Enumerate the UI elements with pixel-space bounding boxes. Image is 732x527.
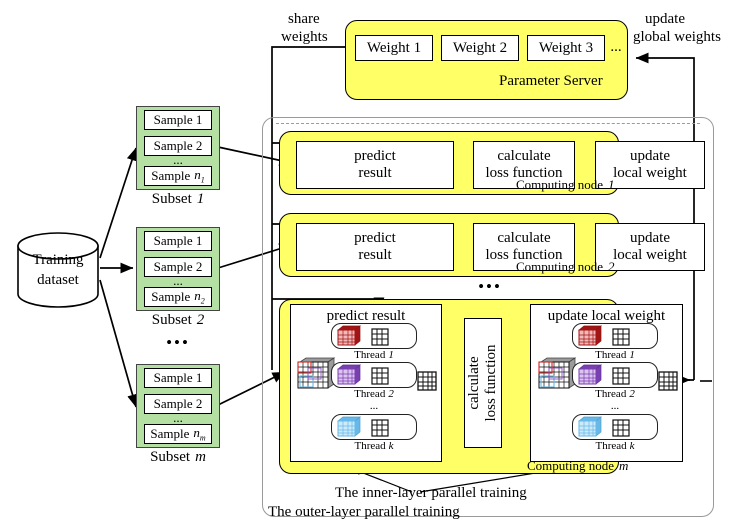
weight-label: Weight 2 xyxy=(453,40,507,57)
weight-label: Weight 3 xyxy=(539,40,593,57)
update-global-weights-label-line2: global weights xyxy=(633,30,721,46)
sample-label: Sample xyxy=(150,426,189,442)
subset-caption-prefix: Subset xyxy=(152,313,192,329)
subset-2-caption: Subset2 xyxy=(136,312,220,330)
node-m-loss-box[interactable]: calculate loss function xyxy=(464,318,502,448)
predict-line2: result xyxy=(354,247,396,264)
dataset-label-line2: dataset xyxy=(16,272,100,290)
thread-label-prefix: Thread xyxy=(354,350,385,362)
subset-m-caption: Subsetm xyxy=(136,449,220,467)
node-2-predict-box[interactable]: predict result xyxy=(296,223,454,271)
inner-layer-caption: The inner-layer parallel training xyxy=(335,486,527,502)
share-weights-label-line1: share xyxy=(288,12,320,28)
subset-caption-index: m xyxy=(195,450,206,466)
node-1-predict-box[interactable]: predict result xyxy=(296,141,454,189)
update-threads-ellipsis: ... xyxy=(572,400,658,414)
update-line1: update xyxy=(613,148,687,165)
share-weights-label-line2: weights xyxy=(281,30,328,46)
subset-m-sample-n[interactable]: Sample nm xyxy=(144,424,212,444)
subset-2-ellipsis: ... xyxy=(144,275,212,287)
predict-line1: predict xyxy=(354,148,396,165)
sample-label: Sample xyxy=(151,168,190,184)
sample-sub-index: m xyxy=(200,434,206,443)
update-source-tensor xyxy=(537,358,571,390)
subset-caption-prefix: Subset xyxy=(152,192,192,208)
training-dataset-cylinder xyxy=(16,232,100,308)
update-line2: local weight xyxy=(613,165,687,182)
parameter-server-label: Parameter Server xyxy=(499,74,603,90)
thread-label-prefix: Thread xyxy=(354,441,385,453)
subset-caption-prefix: Subset xyxy=(150,450,190,466)
node-caption-index: 1 xyxy=(608,177,615,192)
sample-label: Sample 1 xyxy=(154,112,203,128)
loss-line1: calculate xyxy=(485,230,562,247)
predict-source-tensor xyxy=(296,358,330,390)
sample-sub-index: 2 xyxy=(201,297,205,306)
node-caption-index: 2 xyxy=(608,259,615,274)
computing-node-m-caption: Computing nodem xyxy=(527,459,628,473)
subset-1-caption: Subset1 xyxy=(136,191,220,209)
outer-layer-top-dash xyxy=(276,123,700,124)
sample-label: Sample 1 xyxy=(154,370,203,386)
computing-node-2-caption: Computing node2 xyxy=(516,260,615,274)
subset-2-sample-n[interactable]: Sample n2 xyxy=(144,287,212,307)
predict-line1: predict xyxy=(354,230,396,247)
subset-2-sample-1[interactable]: Sample 1 xyxy=(144,231,212,251)
update-thread-k-label: Threadk xyxy=(572,440,658,454)
loss-line2: loss function xyxy=(483,344,500,421)
node-m-threads-ellipsis: ... xyxy=(331,400,417,414)
weight-2-box[interactable]: Weight 2 xyxy=(441,35,519,61)
thread-label-prefix: Thread xyxy=(595,350,626,362)
update-line2: local weight xyxy=(613,247,687,264)
node-caption-prefix: Computing node xyxy=(516,259,603,274)
sample-label: Sample 1 xyxy=(154,233,203,249)
weight-1-box[interactable]: Weight 1 xyxy=(355,35,433,61)
node-caption-prefix: Computing node xyxy=(516,177,603,192)
subset-caption-index: 1 xyxy=(197,192,205,208)
loss-line1: calculate xyxy=(466,344,483,421)
update-thread-1-label: Thread1 xyxy=(572,349,658,363)
subset-m-sample-1[interactable]: Sample 1 xyxy=(144,368,212,388)
sample-sub: n1 xyxy=(194,167,205,185)
node-m-thread-1-label: Thread1 xyxy=(331,349,417,363)
node-caption-prefix: Computing node xyxy=(527,458,614,473)
subsets-ellipsis: ••• xyxy=(136,334,220,352)
thread-label-index: 1 xyxy=(388,350,394,362)
sample-sub: n2 xyxy=(194,288,205,306)
sample-sub: nm xyxy=(193,425,205,443)
weights-more-ellipsis: ... xyxy=(606,38,626,58)
subset-1-ellipsis: ... xyxy=(144,154,212,166)
sample-label: Sample xyxy=(151,289,190,305)
thread-label-index: 1 xyxy=(629,350,635,362)
subset-m-ellipsis: ... xyxy=(144,412,212,424)
dataset-label-line1: Training xyxy=(16,252,100,270)
computing-nodes-ellipsis: ••• xyxy=(440,278,540,296)
thread-label-prefix: Thread xyxy=(595,441,626,453)
loss-line1: calculate xyxy=(485,148,562,165)
thread-label-index: k xyxy=(389,441,394,453)
node-caption-index: m xyxy=(619,458,628,473)
diagram-canvas: Training dataset Sample 1 Sample 2 ... S… xyxy=(0,0,732,527)
subset-1-sample-n[interactable]: Sample n1 xyxy=(144,166,212,186)
subset-caption-index: 2 xyxy=(197,313,205,329)
computing-node-1-caption: Computing node1 xyxy=(516,178,615,192)
predict-line2: result xyxy=(354,165,396,182)
weight-3-box[interactable]: Weight 3 xyxy=(527,35,605,61)
outer-layer-caption: The outer-layer parallel training xyxy=(268,505,460,521)
thread-label-index: k xyxy=(630,441,635,453)
update-line1: update xyxy=(613,230,687,247)
update-global-weights-label-line1: update xyxy=(645,12,685,28)
node-m-thread-k-label: Threadk xyxy=(331,440,417,454)
subset-1-sample-1[interactable]: Sample 1 xyxy=(144,110,212,130)
weight-label: Weight 1 xyxy=(367,40,421,57)
sample-sub-index: 1 xyxy=(201,176,205,185)
